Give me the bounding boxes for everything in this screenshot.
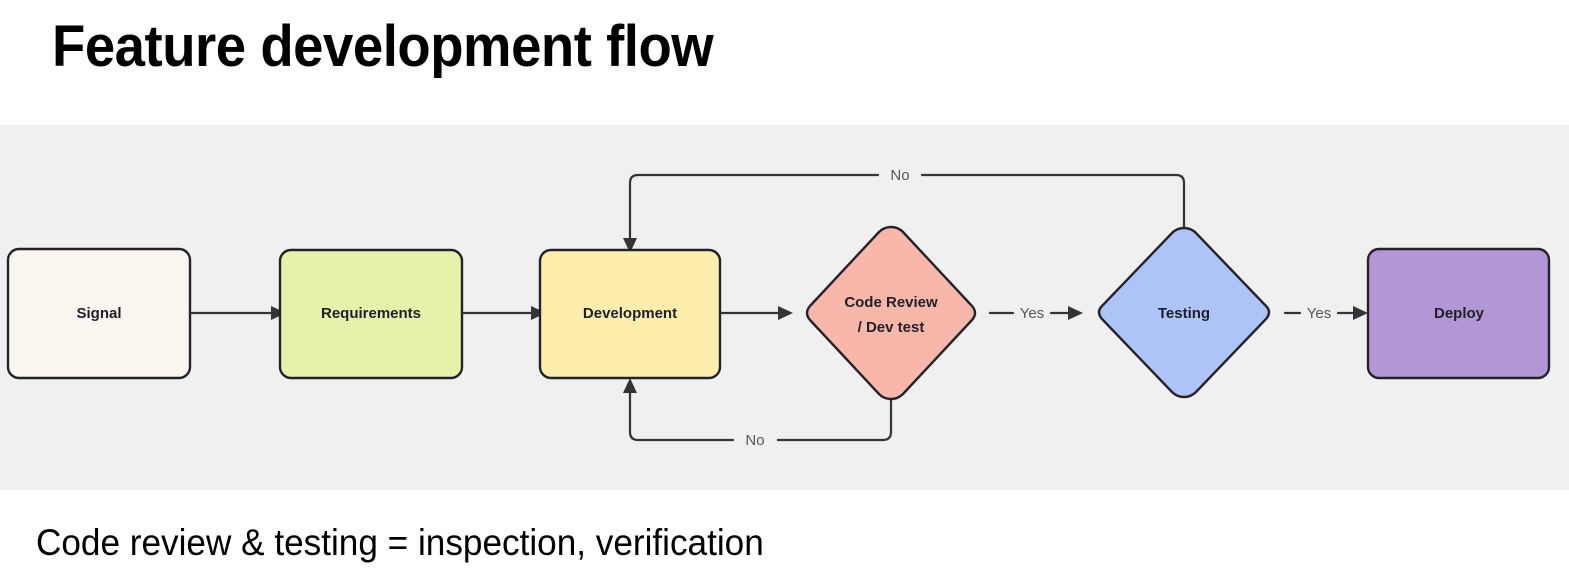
edge-code-review-to-testing: Yes — [990, 305, 1083, 322]
edge-label-no-top: No — [890, 167, 909, 184]
slide-caption: Code review & testing = inspection, veri… — [36, 522, 764, 564]
node-label-code-review-line1: Code Review — [844, 294, 938, 311]
node-signal[interactable]: Signal — [8, 249, 190, 378]
edge-label-yes-testing: Yes — [1307, 305, 1331, 322]
edge-requirements-to-development — [462, 306, 546, 320]
slide-root: Feature development flow — [0, 0, 1569, 574]
node-label-testing: Testing — [1158, 305, 1210, 322]
node-label-deploy: Deploy — [1434, 305, 1485, 322]
edge-testing-to-deploy: Yes — [1285, 305, 1368, 322]
edge-development-to-code-review — [720, 306, 793, 320]
node-development[interactable]: Development — [540, 250, 720, 378]
node-label-code-review-line2: / Dev test — [858, 319, 925, 336]
node-label-signal: Signal — [76, 305, 121, 322]
node-label-requirements: Requirements — [321, 305, 421, 322]
node-code-review[interactable]: Code Review / Dev test — [807, 227, 975, 399]
node-requirements[interactable]: Requirements — [280, 250, 462, 378]
edge-signal-to-requirements — [190, 306, 286, 320]
node-testing[interactable]: Testing — [1099, 228, 1269, 397]
edge-label-yes-code-review: Yes — [1020, 305, 1044, 322]
node-deploy[interactable]: Deploy — [1368, 249, 1549, 378]
page-title: Feature development flow — [52, 18, 713, 76]
edge-label-no-bottom: No — [745, 432, 764, 449]
node-label-development: Development — [583, 305, 677, 322]
diagram-canvas: Yes Yes No — [0, 125, 1569, 490]
edge-code-review-to-development-no-bottom: No — [623, 378, 891, 449]
